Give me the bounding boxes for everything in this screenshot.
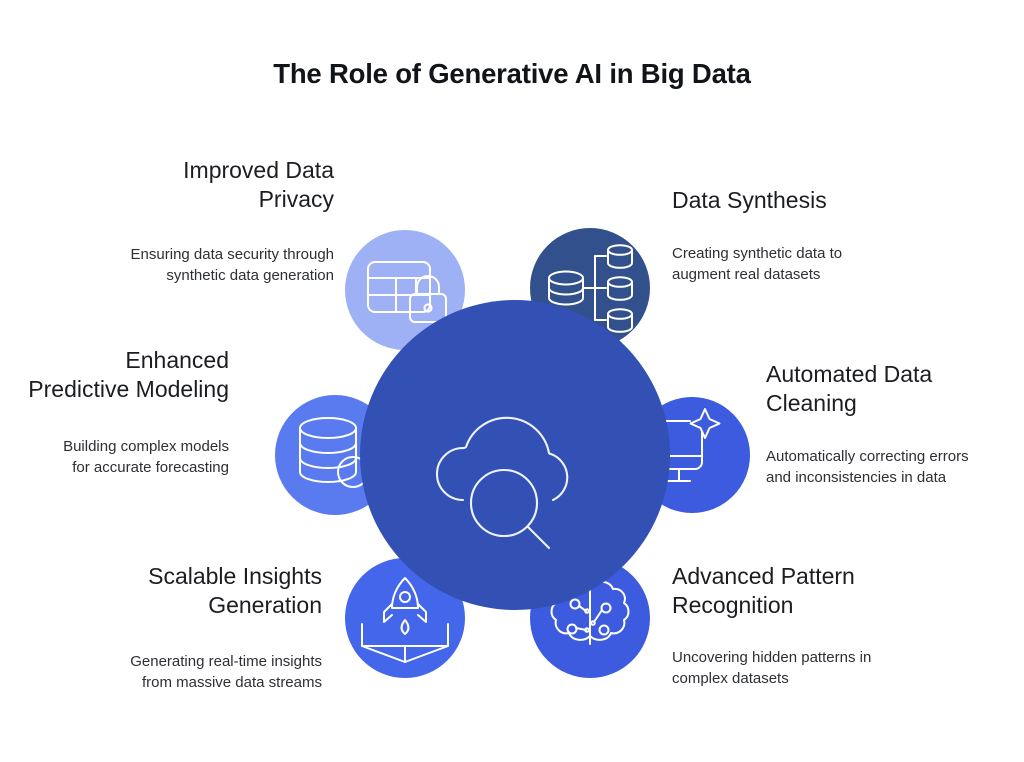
hub-and-spoke-graphic	[250, 200, 780, 710]
node-description-automated-data-cleaning: Automatically correcting errors and inco…	[766, 446, 1024, 488]
infographic-canvas: The Role of Generative AI in Big Data Im…	[0, 0, 1024, 762]
page-title: The Role of Generative AI in Big Data	[0, 58, 1024, 90]
node-text-automated-data-cleaning: Automated Data Cleaning Automatically co…	[766, 360, 1024, 488]
node-description-enhanced-predictive-modeling: Building complex models for accurate for…	[0, 436, 229, 478]
node-heading-enhanced-predictive-modeling: Enhanced Predictive Modeling	[0, 346, 229, 404]
node-text-enhanced-predictive-modeling: Enhanced Predictive Modeling Building co…	[0, 346, 229, 478]
node-heading-automated-data-cleaning: Automated Data Cleaning	[766, 360, 1024, 418]
center-hub[interactable]	[360, 300, 670, 610]
